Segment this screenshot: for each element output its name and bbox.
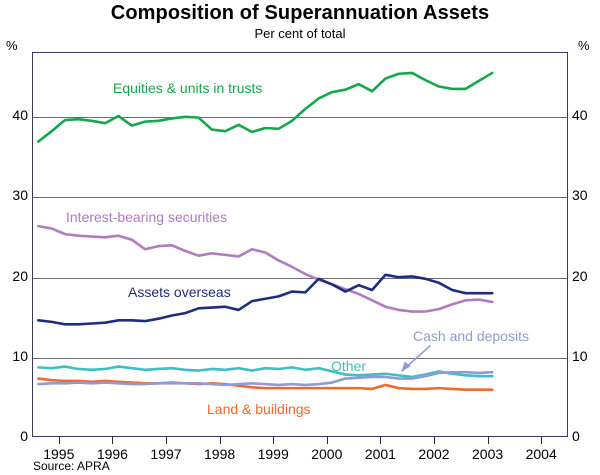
y-axis-tick-label: 40 bbox=[572, 107, 600, 123]
x-axis-tick-label: 1997 bbox=[150, 446, 181, 462]
y-axis-tick-label: 20 bbox=[572, 268, 600, 284]
x-axis-tick-mark bbox=[220, 437, 221, 444]
x-axis: 1995199619971998199920002001200220032004 bbox=[32, 437, 568, 467]
x-axis-tick-mark bbox=[166, 437, 167, 444]
y-axis-tick-label: 10 bbox=[572, 348, 600, 364]
x-axis-tick-mark bbox=[112, 437, 113, 444]
x-axis-tick-label: 2004 bbox=[526, 446, 557, 462]
x-axis-tick-label: 2000 bbox=[311, 446, 342, 462]
x-axis-tick-label: 1999 bbox=[258, 446, 289, 462]
y-axis-tick-label: 0 bbox=[572, 428, 600, 444]
source-note: Source: APRA bbox=[33, 459, 110, 473]
x-axis-tick-mark bbox=[273, 437, 274, 444]
x-axis-tick-mark bbox=[434, 437, 435, 444]
x-axis-tick-mark bbox=[380, 437, 381, 444]
series-lines bbox=[33, 53, 567, 436]
x-axis-tick-mark bbox=[541, 437, 542, 444]
y-axis-tick-label: 10 bbox=[0, 348, 28, 364]
series-label-cash-and-deposits: Cash and deposits bbox=[413, 328, 529, 344]
chart-subtitle: Per cent of total bbox=[0, 26, 600, 41]
series-label-equities: Equities & units in trusts bbox=[113, 80, 262, 96]
series-label-other: Other bbox=[331, 358, 366, 374]
series-line bbox=[38, 73, 492, 142]
x-axis-tick-label: 2002 bbox=[418, 446, 449, 462]
x-axis-tick-mark bbox=[327, 437, 328, 444]
x-axis-tick-label: 1998 bbox=[204, 446, 235, 462]
y-axis-tick-label: 20 bbox=[0, 268, 28, 284]
series-label-assets-overseas: Assets overseas bbox=[128, 284, 231, 300]
x-axis-tick-label: 2003 bbox=[472, 446, 503, 462]
chart-title: Composition of Superannuation Assets bbox=[0, 2, 600, 25]
y-axis-tick-label: 40 bbox=[0, 107, 28, 123]
plot-area bbox=[32, 52, 568, 437]
y-axis-tick-label: 0 bbox=[0, 428, 28, 444]
y-axis-tick-label: 30 bbox=[572, 187, 600, 203]
x-axis-tick-mark bbox=[59, 437, 60, 444]
cash-annotation-arrow-head bbox=[402, 361, 411, 371]
y-axis-unit-left: % bbox=[6, 38, 18, 53]
x-axis-tick-mark bbox=[488, 437, 489, 444]
chart-container: Composition of Superannuation Assets Per… bbox=[0, 0, 600, 475]
y-axis-tick-label: 30 bbox=[0, 187, 28, 203]
x-axis-tick-label: 2001 bbox=[365, 446, 396, 462]
series-line bbox=[38, 275, 492, 324]
y-axis-unit-right: % bbox=[578, 38, 590, 53]
series-label-land-and-buildings: Land & buildings bbox=[207, 401, 311, 417]
series-label-interest-bearing-securities: Interest-bearing securities bbox=[66, 209, 227, 225]
